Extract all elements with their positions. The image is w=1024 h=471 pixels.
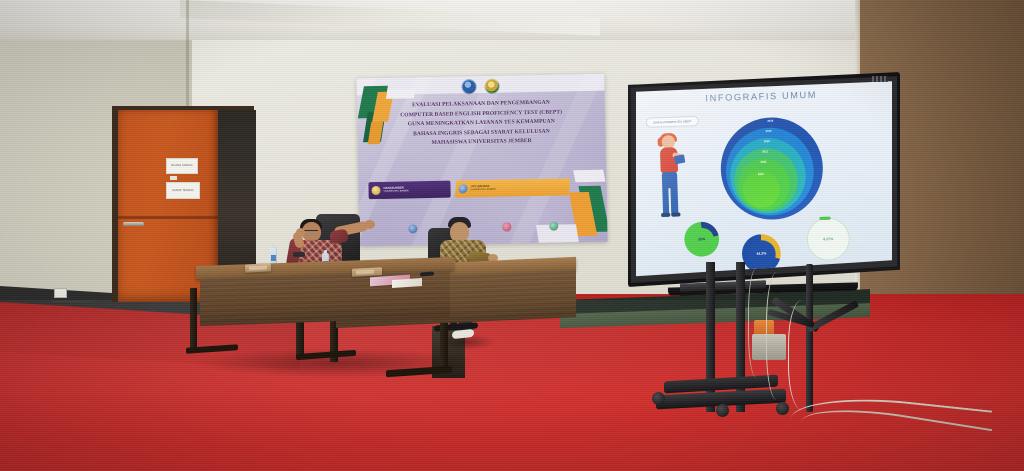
banner-title: EVALUASI PELAKSANAAN DAN PENGEMBANGAN CO… bbox=[365, 98, 598, 150]
caster-wheel-1 bbox=[652, 392, 665, 405]
caster-wheel-3 bbox=[716, 404, 729, 417]
nested-circle-label-3: 2020 bbox=[764, 140, 770, 143]
sponsor-icon-1 bbox=[408, 224, 417, 233]
badge-seal-icon-2 bbox=[458, 184, 468, 193]
door-panel-seam bbox=[118, 216, 218, 219]
character-shoe-right bbox=[671, 212, 680, 216]
door-handle[interactable] bbox=[123, 222, 144, 226]
nested-circle-label-5: 2022 bbox=[760, 161, 766, 164]
banner-badge-right: UPT. BAHASA UNIVERSITAS JEMBER bbox=[455, 178, 570, 197]
wall-display[interactable]: INFOGRAFIS UMUM JUMLAH PESERTA TES CBEPT… bbox=[628, 72, 900, 287]
door-sign-lower: HARAP TENANG bbox=[166, 182, 200, 199]
person-left-hand bbox=[296, 228, 305, 237]
donut-1-label: 22% bbox=[698, 237, 705, 241]
badge-right-text: UPT. BAHASA UNIVERSITAS JEMBER bbox=[470, 185, 496, 192]
nested-circle-label-2: 2019 bbox=[766, 130, 772, 133]
nested-circle-chart: 2018 2019 2020 2021 2022 2023 bbox=[719, 116, 829, 230]
donut-3-arc bbox=[819, 216, 830, 220]
door-sign-upper-text: RUANG SIDANG bbox=[171, 164, 192, 168]
character-book-icon bbox=[674, 154, 685, 164]
tv-brand-logo bbox=[872, 76, 888, 82]
name-plate-block-2 bbox=[352, 267, 382, 277]
character-shoe-left bbox=[661, 213, 670, 217]
badge-left-text: NARASUMBER UNIVERSITAS JEMBER bbox=[384, 187, 409, 194]
nested-circle-label-4: 2021 bbox=[762, 150, 768, 153]
name-plate-face-1 bbox=[249, 266, 267, 271]
tv-screen[interactable]: INFOGRAFIS UMUM JUMLAH PESERTA TES CBEPT… bbox=[636, 79, 892, 279]
seminar-room-photo: RUANG SIDANG HARAP TENANG EVALUASI PELAK… bbox=[0, 0, 1024, 471]
nested-circle-label-6: 2023 bbox=[758, 173, 764, 176]
person-left-raised-hand bbox=[364, 220, 375, 229]
door-sign-lower-text: HARAP TENANG bbox=[172, 189, 194, 193]
badge-right-subtitle: UNIVERSITAS JEMBER bbox=[470, 189, 495, 192]
student-illustration bbox=[654, 135, 688, 230]
donut-chart-1: 22% bbox=[684, 221, 720, 257]
tut-wuri-handayani-logo-icon bbox=[461, 79, 476, 94]
donut-3-label: 8.27% bbox=[823, 237, 833, 241]
name-plate-block-1 bbox=[245, 263, 271, 272]
person-left-glasses bbox=[304, 230, 318, 234]
universitas-jember-logo-icon bbox=[484, 79, 499, 94]
microphone-base bbox=[293, 252, 305, 257]
table-leg-1 bbox=[190, 288, 197, 350]
stand-column-right bbox=[736, 262, 745, 412]
name-plate-face-2 bbox=[356, 270, 374, 275]
donut-chart-3: 8.27% bbox=[806, 217, 850, 261]
caster-wheel-2 bbox=[776, 402, 789, 415]
slide-callout: JUMLAH PESERTA TES CBEPT bbox=[646, 116, 699, 128]
nested-circle-label-1: 2018 bbox=[767, 120, 773, 123]
power-cable-3 bbox=[788, 300, 823, 410]
badge-seal-icon bbox=[371, 186, 380, 195]
door-sign-upper: RUANG SIDANG bbox=[166, 158, 198, 174]
banner-badge-left: NARASUMBER UNIVERSITAS JEMBER bbox=[368, 181, 450, 200]
door-sign-tab bbox=[170, 176, 177, 180]
donut-2-label: 44.3% bbox=[756, 251, 766, 255]
presentation-slide: INFOGRAFIS UMUM JUMLAH PESERTA TES CBEPT… bbox=[636, 79, 892, 279]
sponsor-icon-4 bbox=[549, 222, 558, 231]
badge-left-subtitle: UNIVERSITAS JEMBER bbox=[384, 190, 409, 193]
